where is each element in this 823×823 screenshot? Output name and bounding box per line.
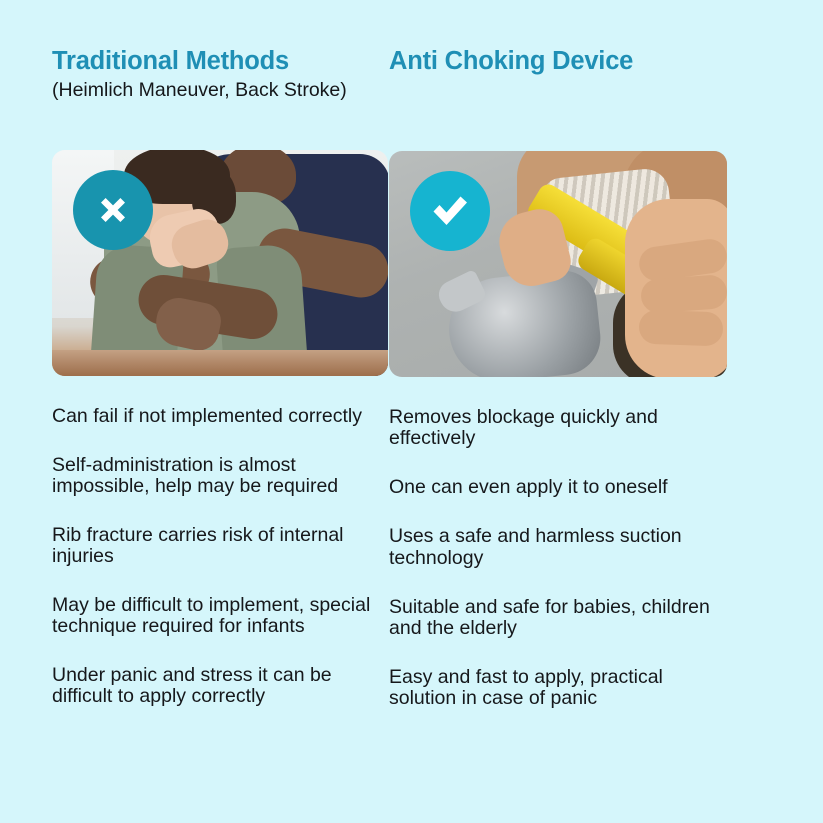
table-edge xyxy=(52,350,388,376)
photo-anti-choking-device xyxy=(389,151,727,377)
bullet-list-anti-choking: Removes blockage quickly and effectively… xyxy=(389,407,446,708)
list-item: Uses a safe and harmless suction technol… xyxy=(389,526,733,568)
comparison-infographic: Traditional Methods (Heimlich Maneuver, … xyxy=(0,0,823,823)
list-item: Removes blockage quickly and effectively xyxy=(389,407,733,449)
column-heading-anti-choking: Anti Choking Device xyxy=(389,47,446,76)
check-mark-icon xyxy=(410,171,490,251)
list-item: Suitable and safe for babies, children a… xyxy=(389,597,733,639)
user-finger xyxy=(640,274,727,314)
list-item: Easy and fast to apply, practical soluti… xyxy=(389,667,733,709)
cross-x-icon xyxy=(73,170,153,250)
photo-heimlich-maneuver xyxy=(52,150,388,376)
list-item: One can even apply it to oneself xyxy=(389,477,733,498)
comparison-columns: Traditional Methods (Heimlich Maneuver, … xyxy=(0,0,823,737)
user-finger xyxy=(638,310,723,347)
